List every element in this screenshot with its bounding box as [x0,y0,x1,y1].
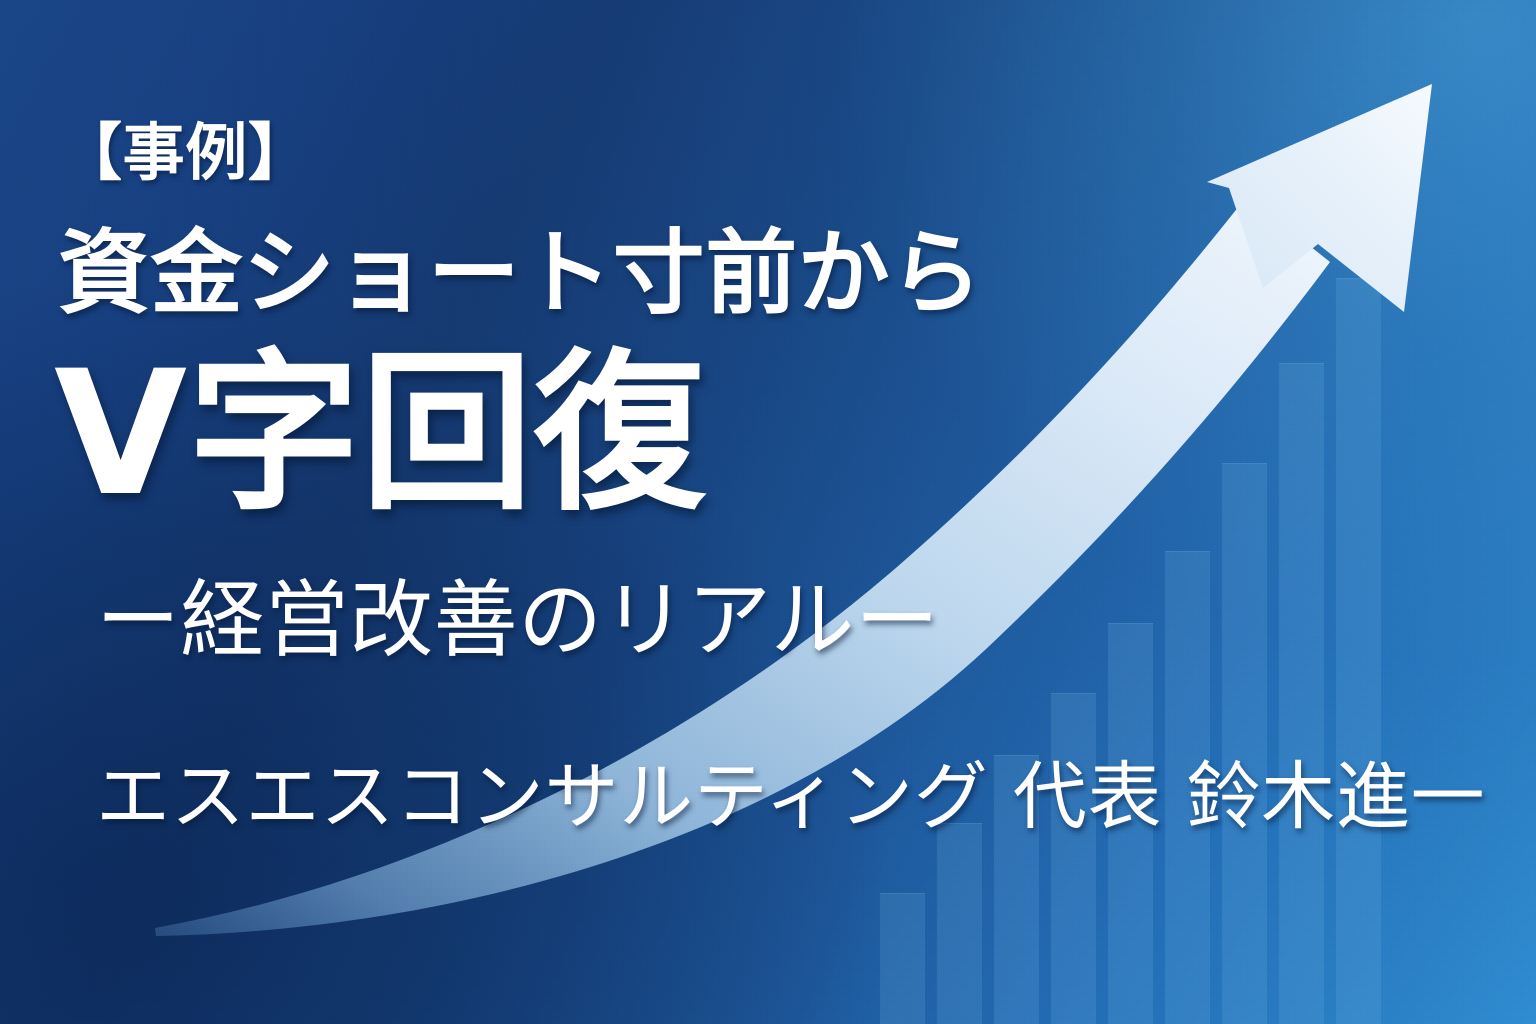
headline-kicker: 資金ショート寸前から [58,228,983,320]
headline-main: V字回復 [54,348,707,520]
speaker-byline: エスエスコンサルティング 代表 鈴木進一 [96,760,1485,834]
headline-eyebrow: 【事例】 [60,122,310,184]
poster-canvas: 【事例】 資金ショート寸前から V字回復 ー経営改善のリアルー エスエスコンサル… [0,0,1536,1024]
headline-subtitle: ー経営改善のリアルー [96,578,939,662]
